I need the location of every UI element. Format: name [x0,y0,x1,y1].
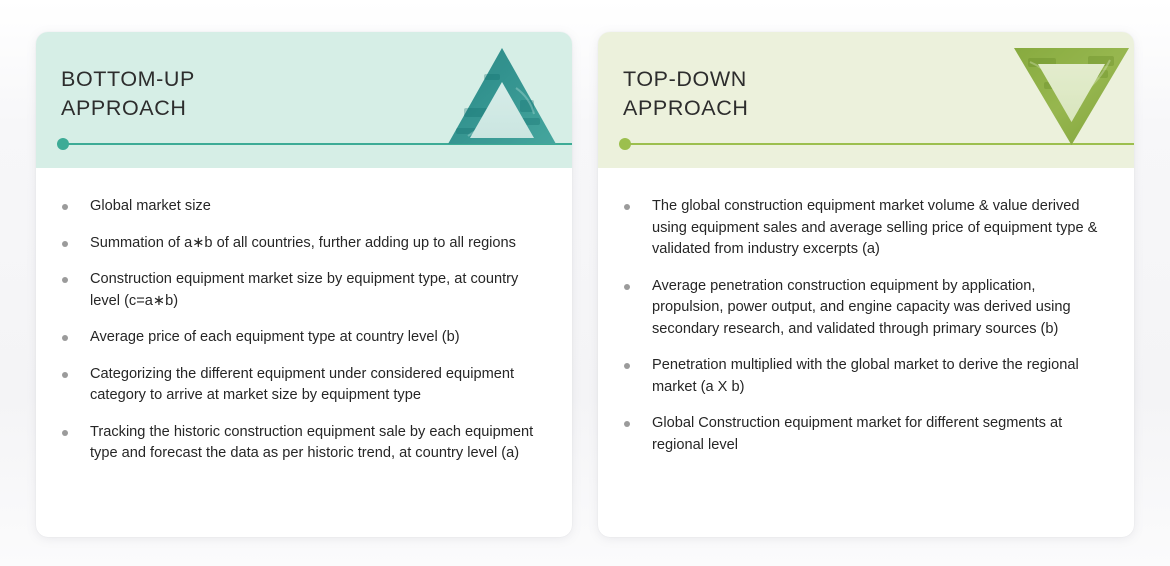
accent-dot [619,138,631,150]
list-item: Average penetration construction equipme… [622,276,1108,341]
card-body-bottom-up: Global market size Summation of a∗b of a… [36,168,572,465]
bullet-icon [62,335,68,341]
list-item-text: Average price of each equipment type at … [90,329,460,345]
list-item: Global Construction equipment market for… [622,413,1108,456]
list-item: Construction equipment market size by eq… [60,269,546,312]
card-title: TOP-DOWN APPROACH [623,65,748,123]
list-item-text: The global construction equipment market… [652,198,1097,257]
card-header-bottom-up: BOTTOM-UP APPROACH [36,32,572,168]
bullet-icon [624,204,630,210]
card-body-top-down: The global construction equipment market… [598,168,1134,456]
list-item: Penetration multiplied with the global m… [622,355,1108,398]
bullet-icon [62,277,68,283]
bullet-icon [62,372,68,378]
bullet-icon [62,204,68,210]
list-item: Summation of a∗b of all countries, furth… [60,233,546,255]
bullet-icon [624,421,630,427]
card-header-top-down: TOP-DOWN APPROACH [598,32,1134,168]
bullet-icon [62,430,68,436]
list-item-text: Tracking the historic construction equip… [90,424,533,462]
card-title: BOTTOM-UP APPROACH [61,65,195,123]
list-item: Average price of each equipment type at … [60,327,546,349]
list-item-text: Average penetration construction equipme… [652,278,1071,337]
list-item-text: Construction equipment market size by eq… [90,271,518,309]
list-item-text: Categorizing the different equipment und… [90,366,514,404]
list-item: Global market size [60,196,546,218]
page-root: BOTTOM-UP APPROACH [0,0,1170,566]
card-bottom-up: BOTTOM-UP APPROACH [36,32,572,537]
bullet-icon [62,241,68,247]
bullet-icon [624,284,630,290]
card-top-down: TOP-DOWN APPROACH [598,32,1134,537]
list-item-text: Penetration multiplied with the global m… [652,357,1079,395]
list-item-text: Global Construction equipment market for… [652,415,1062,453]
list-item: Categorizing the different equipment und… [60,364,546,407]
points-list: Global market size Summation of a∗b of a… [60,196,546,465]
accent-dot [57,138,69,150]
triangle-down-icon [1014,48,1129,145]
list-item-text: Summation of a∗b of all countries, furth… [90,235,516,251]
points-list: The global construction equipment market… [622,196,1108,456]
list-item: The global construction equipment market… [622,196,1108,261]
list-item: Tracking the historic construction equip… [60,422,546,465]
triangle-up-icon [448,48,556,144]
list-item-text: Global market size [90,198,211,214]
bullet-icon [624,363,630,369]
